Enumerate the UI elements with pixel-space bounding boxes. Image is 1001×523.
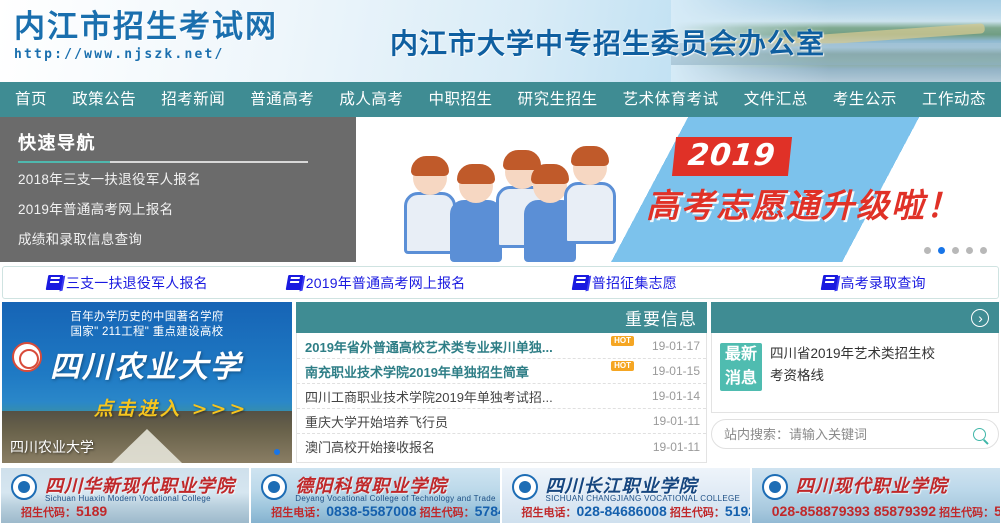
ad-tagline-2: 国家" 211工程" 重点建设高校 — [2, 323, 292, 339]
ad-university-name: 四川农业大学 — [50, 342, 242, 386]
banner-code: 5191 — [994, 503, 1000, 519]
latest-news-text: 四川省2019年艺术类招生校 考资格线 — [770, 343, 935, 387]
chevron-right-icon[interactable] — [971, 309, 989, 327]
quicklink-collect-aspirations[interactable]: 普招征集志愿 — [501, 273, 750, 293]
nav-home[interactable]: 首页 — [6, 82, 56, 117]
banner-phone-label: 招生电话： — [271, 507, 326, 519]
latest-news-badge: 最新 消息 — [720, 343, 762, 391]
carousel-slogan: 高考志愿通升级啦！ — [646, 179, 961, 227]
nav-gaokao[interactable]: 普通高考 — [241, 82, 323, 117]
ad-caption: 四川农业大学 — [10, 437, 94, 457]
table-row[interactable]: 重庆大学开始培养飞行员 19-01-11 — [297, 409, 706, 434]
latest-news-line1: 四川省2019年艺术类招生校 — [770, 343, 935, 365]
carousel-dot-2[interactable] — [938, 247, 945, 254]
university-seal-icon — [12, 342, 42, 372]
carousel-dot-3[interactable] — [952, 247, 959, 254]
hot-badge: HOT — [611, 361, 634, 371]
news-item-date: 19-01-15 — [640, 364, 700, 378]
banner-deyang-keimao[interactable]: 德阳科贸职业学院 Deyang Vocational College of Te… — [251, 468, 499, 523]
nav-documents[interactable]: 文件汇总 — [735, 82, 817, 117]
page-root: 内江市招生考试网 http://www.njszk.net/ 内江市大学中专招生… — [0, 0, 1001, 523]
banner-contact: 招生电话：0838-5587008 招生代码：5784 — [271, 503, 499, 520]
banner-code-label: 招生代码： — [939, 507, 994, 519]
important-news-title: 重要信息 — [625, 305, 697, 330]
news-item-date: 19-01-14 — [640, 389, 700, 403]
quicklink-sanzhiyifu[interactable]: 三支一扶退役军人报名 — [3, 273, 252, 293]
news-item-title: 澳门高校开始接收报名 — [305, 437, 640, 456]
quick-link-bar: 三支一扶退役军人报名 2019年普通高考网上报名 普招征集志愿 高考录取查询 — [2, 266, 999, 299]
ad-sichuan-agricultural-university[interactable]: 百年办学历史的中国著名学府 国家" 211工程" 重点建设高校 四川农业大学 点… — [2, 302, 292, 463]
college-seal-icon — [512, 474, 538, 500]
quicknav-link-3[interactable]: 成绩和录取信息查询 — [18, 232, 338, 247]
book-icon — [46, 275, 66, 290]
important-news-header: 重要信息 — [296, 302, 707, 333]
nav-graduate[interactable]: 研究生招生 — [509, 82, 607, 117]
search-input[interactable] — [724, 427, 973, 442]
latest-news-badge-line2: 消息 — [720, 367, 762, 391]
banner-code-label: 招生代码： — [670, 507, 725, 519]
college-seal-icon — [762, 474, 788, 500]
news-item-title: 2019年省外普通高校艺术类专业来川单独... — [305, 337, 609, 356]
carousel-dot-1[interactable] — [924, 247, 931, 254]
quicknav-link-2[interactable]: 2019年普通高考网上报名 — [18, 202, 338, 217]
banner-name-en: Deyang Vocational College of Technology … — [295, 494, 495, 503]
quicknav-link-1[interactable]: 2018年三支一扶退役军人报名 — [18, 172, 338, 187]
hero-row: 快速导航 2018年三支一扶退役军人报名 2019年普通高考网上报名 成绩和录取… — [0, 117, 1001, 262]
book-icon — [820, 275, 840, 290]
banner-code: 5192 — [725, 503, 750, 519]
banner-code: 5189 — [76, 503, 107, 519]
site-logo-text: 内江市招生考试网 — [14, 8, 314, 46]
latest-news-box[interactable]: 最新 消息 四川省2019年艺术类招生校 考资格线 — [711, 333, 999, 413]
students-illustration — [404, 131, 619, 262]
ad-enter-label: 点击进入 >>> — [94, 394, 248, 421]
latest-news-line2: 考资格线 — [770, 365, 935, 387]
nav-vocational[interactable]: 中职招生 — [419, 82, 501, 117]
college-seal-icon — [11, 474, 37, 500]
site-logo[interactable]: 内江市招生考试网 http://www.njszk.net/ — [14, 8, 314, 70]
important-news-panel: 重要信息 2019年省外普通高校艺术类专业来川单独... HOT 19-01-1… — [296, 302, 707, 463]
banner-code-label: 招生代码： — [21, 507, 76, 519]
banner-phone: 0838-5587008 — [326, 503, 416, 519]
carousel-year-badge: 2019 — [672, 137, 792, 176]
banner-code: 5784 — [475, 503, 500, 519]
nav-policy[interactable]: 政策公告 — [63, 82, 145, 117]
banner-phone-label: 招生电话： — [522, 507, 577, 519]
hot-badge: HOT — [611, 336, 634, 346]
banner-name-en: Sichuan Huaxin Modern Vocational College — [45, 494, 211, 503]
news-item-date: 19-01-17 — [640, 339, 700, 353]
banner-sichuan-changjiang[interactable]: 四川长江职业学院 SICHUAN CHANGJIANG VOCATIONAL C… — [502, 468, 750, 523]
right-column-header — [711, 302, 999, 333]
latest-news-badge-line1: 最新 — [720, 343, 762, 367]
banner-contact: 招生代码：5189 — [21, 503, 107, 520]
banner-code-label: 招生代码： — [420, 507, 475, 519]
book-icon — [571, 275, 591, 290]
search-icon[interactable] — [973, 428, 986, 441]
carousel-dots — [924, 247, 987, 254]
banner-sichuan-modern[interactable]: 四川现代职业学院 028-858879393 85879392 招生代码：519… — [752, 468, 1000, 523]
nav-art-sports[interactable]: 艺术体育考试 — [614, 82, 728, 117]
page-title: 内江市大学中专招生委员会办公室 — [390, 22, 825, 62]
banner-contact: 招生电话：028-84686008 招生代码：5192 — [522, 503, 750, 520]
main-navigation: 首页 政策公告 招考新闻 普通高考 成人高考 中职招生 研究生招生 艺术体育考试… — [0, 82, 1001, 117]
carousel-dot-5[interactable] — [980, 247, 987, 254]
banner-name-cn: 四川现代职业学院 — [796, 472, 948, 498]
quick-navigation-divider — [18, 161, 308, 163]
news-item-date: 19-01-11 — [640, 440, 700, 454]
news-item-date: 19-01-11 — [640, 414, 700, 428]
table-row[interactable]: 四川工商职业技术学院2019年单独考试招... 19-01-14 — [297, 384, 706, 409]
nav-workdynamics[interactable]: 工作动态 — [913, 82, 995, 117]
table-row[interactable]: 澳门高校开始接收报名 19-01-11 — [297, 434, 706, 459]
site-logo-url: http://www.njszk.net/ — [14, 47, 314, 62]
carousel-dot-4[interactable] — [966, 247, 973, 254]
news-item-title: 重庆大学开始培养飞行员 — [305, 412, 640, 431]
site-header: 内江市招生考试网 http://www.njszk.net/ 内江市大学中专招生… — [0, 0, 1001, 82]
banner-name-en: SICHUAN CHANGJIANG VOCATIONAL COLLEGE — [546, 494, 741, 503]
book-icon — [285, 275, 305, 290]
quicklink-label: 2019年普通高考网上报名 — [306, 273, 466, 293]
content-row: 百年办学历史的中国著名学府 国家" 211工程" 重点建设高校 四川农业大学 点… — [0, 302, 1001, 465]
quicklink-label: 高考录取查询 — [841, 273, 926, 293]
news-item-title: 南充职业技术学院2019年单独招生简章 — [305, 362, 609, 381]
site-search[interactable] — [711, 419, 999, 449]
quick-navigation-panel: 快速导航 2018年三支一扶退役军人报名 2019年普通高考网上报名 成绩和录取… — [0, 117, 356, 262]
nav-adult[interactable]: 成人高考 — [330, 82, 412, 117]
partner-banners: 四川华新现代职业学院 Sichuan Huaxin Modern Vocatio… — [0, 468, 1001, 523]
ad-carousel-dot[interactable] — [274, 449, 280, 455]
quicklink-label: 普招征集志愿 — [592, 273, 677, 293]
college-seal-icon — [261, 474, 287, 500]
banner-phone: 028-858879393 85879392 — [772, 503, 936, 519]
table-row[interactable]: 南充职业技术学院2019年单独招生简章 HOT 19-01-15 — [297, 359, 706, 384]
news-item-title: 四川工商职业技术学院2019年单独考试招... — [305, 387, 640, 406]
ad-tagline-1: 百年办学历史的中国著名学府 — [2, 308, 292, 324]
nav-publicity[interactable]: 考生公示 — [824, 82, 906, 117]
important-news-list: 2019年省外普通高校艺术类专业来川单独... HOT 19-01-17 南充职… — [296, 333, 707, 463]
promo-carousel[interactable]: 2019 高考志愿通升级啦！ — [356, 117, 1001, 262]
banner-phone: 028-84686008 — [577, 503, 667, 519]
banner-contact: 028-858879393 85879392 招生代码：5191 — [772, 503, 1000, 520]
quick-navigation-title: 快速导航 — [18, 129, 338, 161]
right-column: 最新 消息 四川省2019年艺术类招生校 考资格线 — [711, 302, 999, 463]
banner-sichuan-huaxin[interactable]: 四川华新现代职业学院 Sichuan Huaxin Modern Vocatio… — [1, 468, 249, 523]
quicklink-label: 三支一扶退役军人报名 — [66, 273, 208, 293]
nav-news[interactable]: 招考新闻 — [152, 82, 234, 117]
quicklink-gaokao-online-registration[interactable]: 2019年普通高考网上报名 — [252, 273, 501, 293]
table-row[interactable]: 2019年省外普通高校艺术类专业来川单独... HOT 19-01-17 — [297, 334, 706, 359]
quicklink-admission-query[interactable]: 高考录取查询 — [749, 273, 998, 293]
